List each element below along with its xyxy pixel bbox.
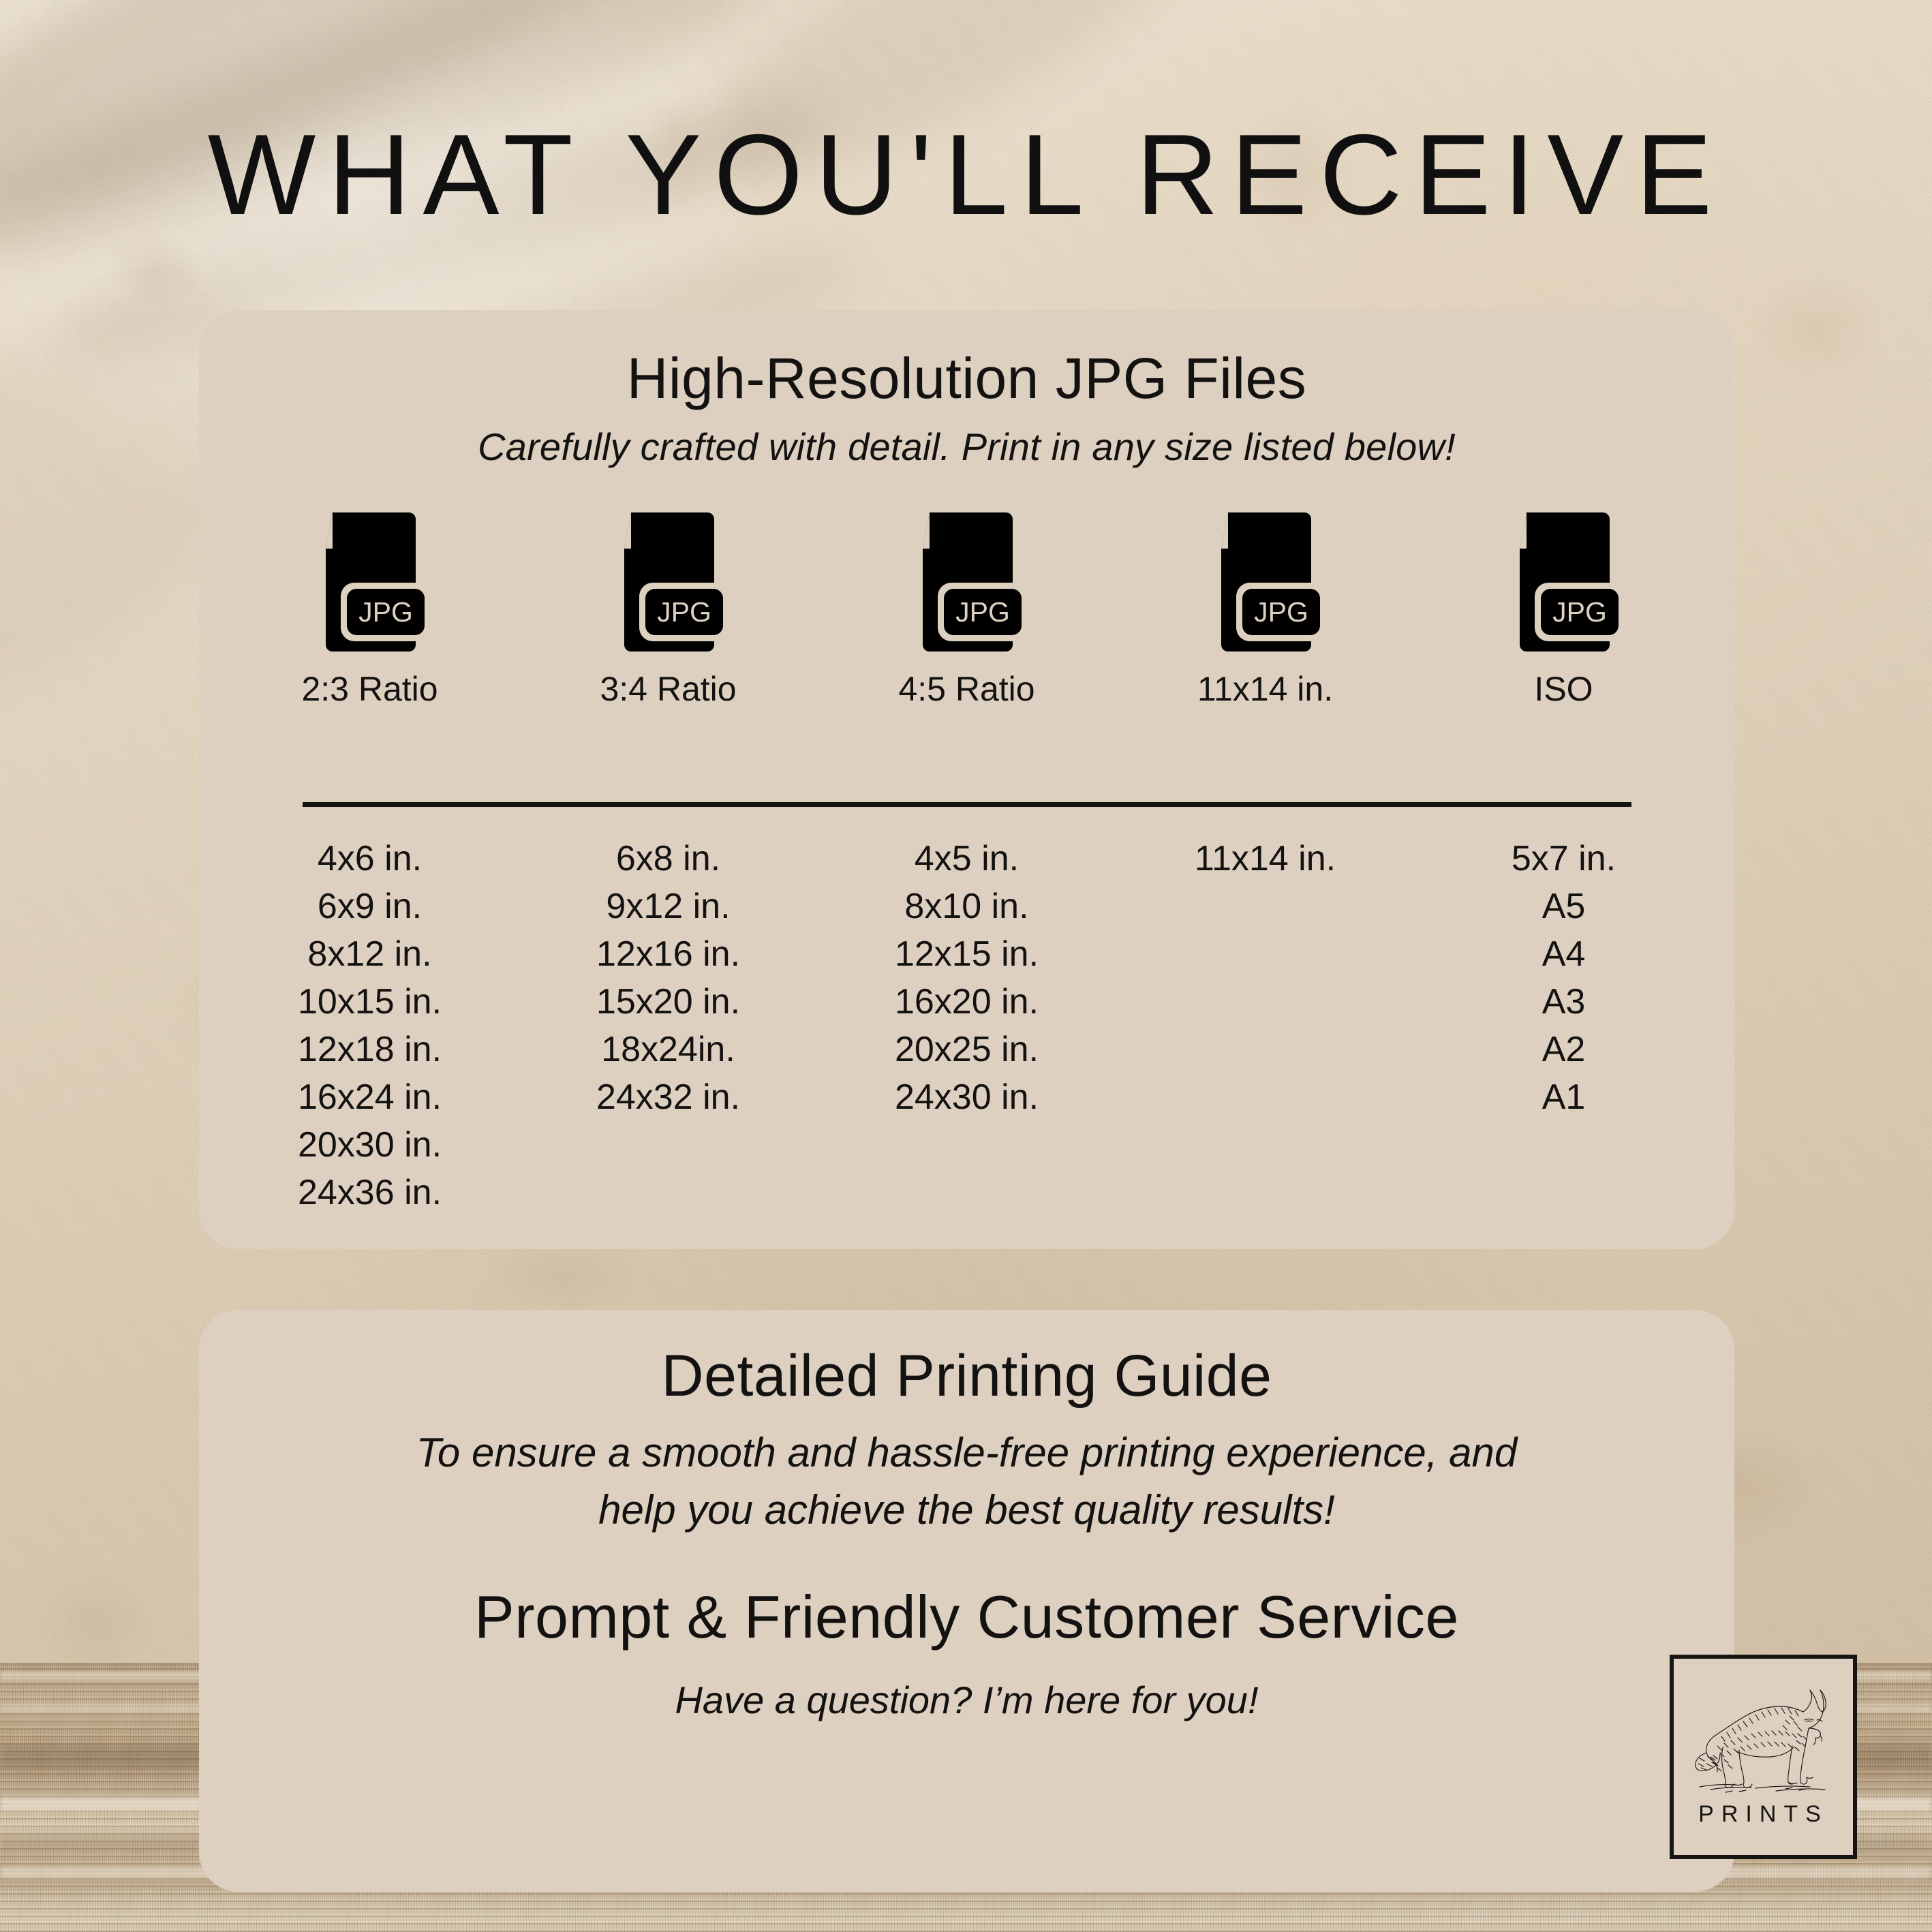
size-item: 24x32 in. [596,1073,740,1121]
jpg-file-icon: JPG [604,511,733,654]
size-item: 16x20 in. [895,978,1039,1026]
size-item: 24x30 in. [895,1073,1039,1121]
guide-body-line-1: To ensure a smooth and hassle-free print… [199,1424,1734,1482]
svg-text:JPG: JPG [657,596,711,628]
size-column-5: 5x7 in. A5 A4 A3 A2 A1 [1445,835,1683,1216]
svg-text:JPG: JPG [1254,596,1308,628]
jpg-file-icon: JPG [1201,511,1330,654]
size-list-grid: 4x6 in. 6x9 in. 8x12 in. 10x15 in. 12x18… [199,835,1734,1216]
size-item: 20x30 in. [298,1121,442,1169]
format-column-header: 4:5 Ratio [898,669,1034,709]
printing-guide-card: Detailed Printing Guide To ensure a smoo… [199,1310,1734,1892]
size-column-2: 6x8 in. 9x12 in. 12x16 in. 15x20 in. 18x… [549,835,788,1216]
size-item: 18x24in. [601,1026,735,1073]
size-column-1: 4x6 in. 6x9 in. 8x12 in. 10x15 in. 12x18… [251,835,489,1216]
size-item: 20x25 in. [895,1026,1039,1073]
svg-text:JPG: JPG [358,596,413,628]
size-table-divider [303,802,1631,807]
files-card-title: High-Resolution JPG Files [199,346,1734,412]
format-column-header: 2:3 Ratio [301,669,438,709]
format-column-3: JPG 4:5 Ratio [848,511,1086,709]
brand-name: PRINTS [1698,1801,1828,1828]
high-resolution-files-card: High-Resolution JPG Files Carefully craf… [199,310,1734,1249]
size-item: 4x6 in. [318,835,422,883]
size-item: 12x16 in. [596,930,740,978]
format-icon-row: JPG 2:3 Ratio JPG 3:4 Ratio JPG [199,511,1734,709]
svg-text:JPG: JPG [955,596,1010,628]
page-title: WHAT YOU'LL RECEIVE [0,109,1932,241]
size-item: 9x12 in. [606,883,730,930]
size-item: 8x10 in. [904,883,1028,930]
format-column-1: JPG 2:3 Ratio [251,511,489,709]
size-column-3: 4x5 in. 8x10 in. 12x15 in. 16x20 in. 20x… [848,835,1086,1216]
format-column-header: 3:4 Ratio [600,669,736,709]
size-item: 11x14 in. [1195,835,1336,883]
format-column-4: JPG 11x14 in. [1146,511,1385,709]
guide-title: Detailed Printing Guide [199,1343,1734,1410]
size-item: A3 [1542,978,1586,1026]
size-item: 16x24 in. [298,1073,442,1121]
jpg-file-icon: JPG [902,511,1032,654]
size-item: 8x12 in. [307,930,431,978]
brand-logo: PRINTS [1670,1655,1857,1859]
size-item: 6x8 in. [616,835,720,883]
size-item: 5x7 in. [1512,835,1616,883]
guide-body-line-2: help you achieve the best quality result… [199,1482,1734,1539]
customer-service-title: Prompt & Friendly Customer Service [199,1582,1734,1652]
size-item: A2 [1542,1026,1586,1073]
size-item: A1 [1542,1073,1586,1121]
format-column-header: 11x14 in. [1197,669,1333,709]
format-column-header: ISO [1534,669,1593,709]
files-card-subtitle: Carefully crafted with detail. Print in … [199,425,1734,469]
size-item: 4x5 in. [915,835,1019,883]
jpg-file-icon: JPG [1499,511,1629,654]
size-column-4: 11x14 in. [1146,835,1385,1216]
jpg-file-icon: JPG [305,511,435,654]
size-item: A4 [1542,930,1586,978]
size-item: 24x36 in. [298,1169,442,1216]
format-column-5: JPG ISO [1445,511,1683,709]
size-item: 15x20 in. [596,978,740,1026]
size-item: 12x18 in. [298,1026,442,1073]
size-item: 6x9 in. [318,883,422,930]
size-item: A5 [1542,883,1586,930]
format-column-2: JPG 3:4 Ratio [549,511,788,709]
size-item: 12x15 in. [895,930,1039,978]
customer-service-subtitle: Have a question? I’m here for you! [199,1678,1734,1722]
wolf-illustration-icon [1690,1671,1837,1797]
size-item: 10x15 in. [298,978,442,1026]
svg-text:JPG: JPG [1552,596,1607,628]
